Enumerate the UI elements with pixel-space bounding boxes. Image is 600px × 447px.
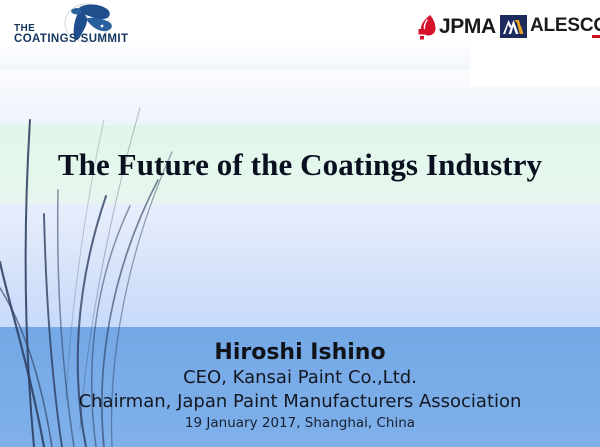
speaker-role: CEO, Kansai Paint Co.,Ltd.	[0, 366, 600, 390]
page-title: The Future of the Coatings Industry	[0, 146, 600, 184]
paint-drop-icon	[418, 14, 438, 40]
logo-summit-line-summit: COATINGS SUMMIT	[14, 34, 128, 45]
presentation-slide: THE COATINGS SUMMIT JPMA ALESCO The	[0, 0, 600, 447]
logo-alesco: ALESCO	[500, 13, 600, 40]
logo-alesco-underline	[592, 35, 600, 38]
logo-coatings-summit: THE COATINGS SUMMIT	[6, 1, 134, 51]
logo-alesco-text: ALESCO	[530, 16, 600, 35]
background-wash-right	[470, 40, 600, 86]
speaker-name: Hiroshi Ishino	[0, 340, 600, 366]
logo-coatings-summit-text: THE COATINGS SUMMIT	[14, 23, 128, 45]
speaker-date-location: 19 January 2017, Shanghai, China	[0, 414, 600, 433]
logo-alesco-text-wrap: ALESCO	[530, 16, 600, 38]
logo-jpma: JPMA	[418, 13, 496, 41]
speaker-chairman-role: Chairman, Japan Paint Manufacturers Asso…	[0, 390, 600, 414]
speaker-block: Hiroshi Ishino CEO, Kansai Paint Co.,Ltd…	[0, 340, 600, 433]
alesco-a-mark-icon	[500, 15, 527, 38]
background-band-light-blue	[0, 203, 600, 327]
logo-jpma-text: JPMA	[439, 15, 496, 39]
